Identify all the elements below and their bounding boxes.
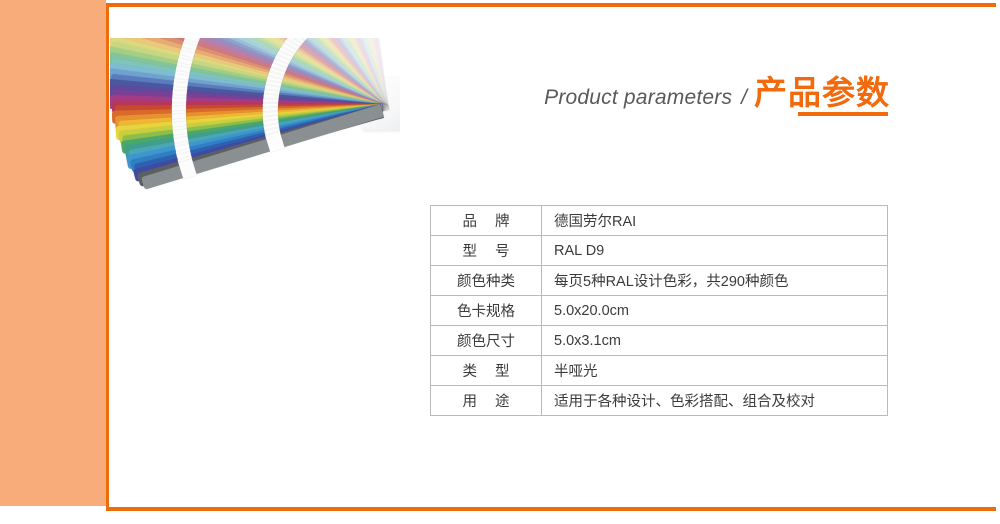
table-row: 用途适用于各种设计、色彩搭配、组合及校对 bbox=[431, 386, 888, 416]
page-title-chinese: 产品参数 bbox=[754, 66, 890, 114]
spec-key-cell: 用途 bbox=[431, 386, 542, 416]
spec-value-cell: 半哑光 bbox=[542, 356, 888, 386]
spec-key-label: 类型 bbox=[445, 360, 528, 381]
spec-key-label: 型号 bbox=[445, 240, 528, 261]
page-title-separator: / bbox=[741, 86, 747, 110]
spec-key-cell: 类型 bbox=[431, 356, 542, 386]
spec-value-cell: 德国劳尔RAI bbox=[542, 206, 888, 236]
spec-key-cell: 型号 bbox=[431, 236, 542, 266]
table-row: 颜色种类每页5种RAL设计色彩，共290种颜色 bbox=[431, 266, 888, 296]
product-photo-fan-deck bbox=[110, 38, 400, 443]
table-row: 品牌德国劳尔RAI bbox=[431, 206, 888, 236]
spec-key-label: 颜色种类 bbox=[457, 270, 515, 291]
bottom-accent-rule bbox=[108, 507, 996, 511]
spec-key-label: 色卡规格 bbox=[457, 300, 515, 321]
table-row: 色卡规格5.0x20.0cm bbox=[431, 296, 888, 326]
spec-key-label: 品牌 bbox=[445, 210, 528, 231]
blade-index-tab-secondary bbox=[178, 159, 196, 179]
spec-key-label: 用途 bbox=[445, 390, 528, 411]
page-title-underline bbox=[798, 112, 888, 116]
left-accent-rule bbox=[106, 3, 109, 511]
fan-blades bbox=[110, 38, 400, 443]
table-row: 类型半哑光 bbox=[431, 356, 888, 386]
table-row: 型号RAL D9 bbox=[431, 236, 888, 266]
spec-value-cell: 适用于各种设计、色彩搭配、组合及校对 bbox=[542, 386, 888, 416]
page-title-english: Product parameters bbox=[544, 86, 732, 110]
spec-value-cell: 5.0x3.1cm bbox=[542, 326, 888, 356]
spec-key-cell: 色卡规格 bbox=[431, 296, 542, 326]
product-parameters-banner: Product parameters / 产品参数 品牌德国劳尔RAI型号RAL… bbox=[0, 0, 1000, 524]
top-accent-rule bbox=[108, 3, 996, 7]
spec-key-cell: 品牌 bbox=[431, 206, 542, 236]
specifications-table: 品牌德国劳尔RAI型号RAL D9颜色种类每页5种RAL设计色彩，共290种颜色… bbox=[430, 205, 888, 416]
spec-key-cell: 颜色种类 bbox=[431, 266, 542, 296]
spec-key-cell: 颜色尺寸 bbox=[431, 326, 542, 356]
table-row: 颜色尺寸5.0x3.1cm bbox=[431, 326, 888, 356]
left-orange-panel bbox=[0, 0, 106, 506]
spec-value-cell: 每页5种RAL设计色彩，共290种颜色 bbox=[542, 266, 888, 296]
spec-value-cell: RAL D9 bbox=[542, 236, 888, 266]
spec-key-label: 颜色尺寸 bbox=[457, 330, 515, 351]
spec-value-cell: 5.0x20.0cm bbox=[542, 296, 888, 326]
blade-index-tab bbox=[265, 132, 284, 153]
